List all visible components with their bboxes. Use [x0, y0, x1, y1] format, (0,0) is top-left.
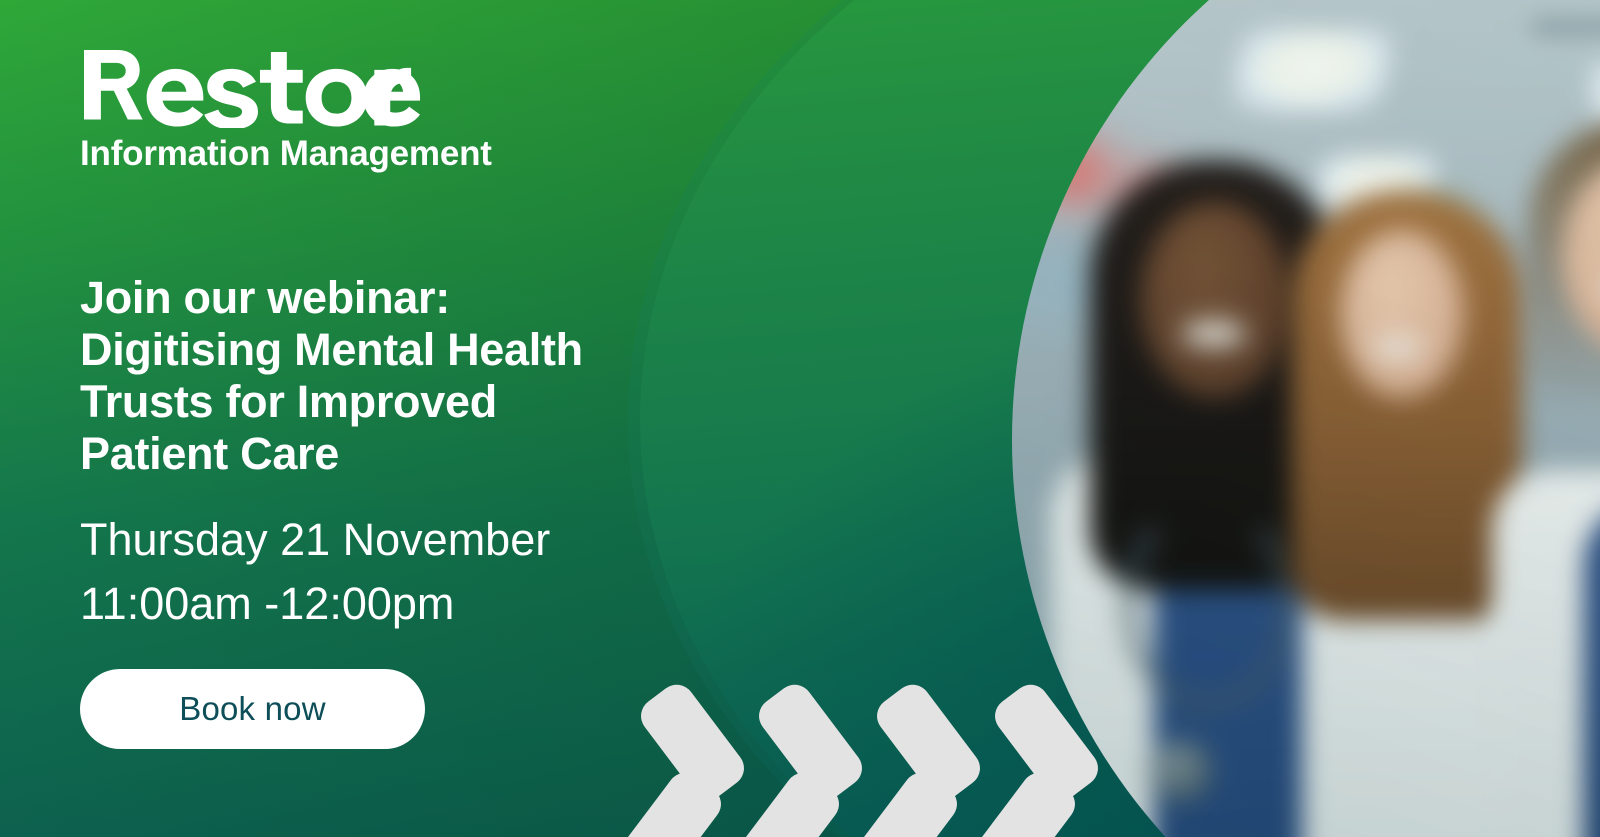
event-details: Thursday 21 November 11:00am -12:00pm [80, 508, 700, 636]
logo-subtitle: Information Management [80, 134, 492, 174]
headline-line-4: Patient Care [80, 428, 339, 479]
chevron-right-icon [746, 695, 874, 837]
event-date: Thursday 21 November [80, 508, 700, 572]
chevron-right-icon [864, 695, 992, 837]
restore-wordmark-icon [80, 44, 430, 128]
headline-line-1: Join our webinar: [80, 272, 450, 323]
brand-logo: Information Management [80, 44, 492, 174]
webinar-promo-banner: Information Management Join our webinar:… [0, 0, 1600, 837]
page-title: Join our webinar: Digitising Mental Heal… [80, 272, 700, 480]
chevron-right-icon [982, 695, 1110, 837]
banner-content: Information Management Join our webinar:… [80, 0, 720, 837]
book-now-button[interactable]: Book now [80, 669, 425, 749]
event-time: 11:00am -12:00pm [80, 572, 700, 636]
headline-line-2: Digitising Mental Health [80, 324, 583, 375]
headline-line-3: Trusts for Improved [80, 376, 497, 427]
